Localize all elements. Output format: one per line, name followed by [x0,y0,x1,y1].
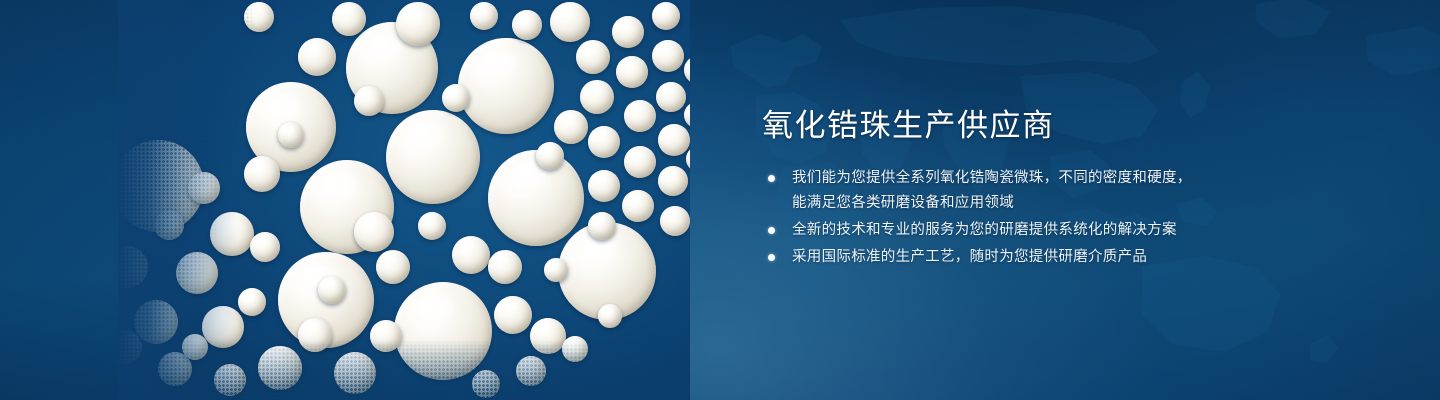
bullet-text-1-line-2: 能满足您各类研磨设备和应用领域 [792,191,1282,216]
bullet-text-2-line-1: 全新的技术和专业的服务为您的研磨提供系统化的解决方案 [792,222,1177,238]
zirconia-beads-photo [118,0,690,400]
bullet-dot-icon [768,227,775,234]
banner-headline: 氧化锆珠生产供应商 [762,106,1282,146]
banner-bullet-list: 我们能为您提供全系列氧化锆陶瓷微珠，不同的密度和硬度， 能满足您各类研磨设备和应… [762,166,1282,270]
banner-copy: 氧化锆珠生产供应商 我们能为您提供全系列氧化锆陶瓷微珠，不同的密度和硬度， 能满… [762,106,1282,272]
bullet-text-1-line-1: 我们能为您提供全系列氧化锆陶瓷微珠，不同的密度和硬度， [792,170,1192,186]
bullet-text-3-line-1: 采用国际标准的生产工艺，随时为您提供研磨介质产品 [792,249,1147,265]
bullet-dot-icon [768,175,775,182]
bullet-dot-icon [768,254,775,261]
hero-banner: 氧化锆珠生产供应商 我们能为您提供全系列氧化锆陶瓷微珠，不同的密度和硬度， 能满… [0,0,1440,400]
bullet-item-1: 我们能为您提供全系列氧化锆陶瓷微珠，不同的密度和硬度， 能满足您各类研磨设备和应… [762,166,1282,216]
bullet-item-3: 采用国际标准的生产工艺，随时为您提供研磨介质产品 [762,245,1282,270]
bead-cluster [118,0,690,400]
bullet-item-2: 全新的技术和专业的服务为您的研磨提供系统化的解决方案 [762,218,1282,243]
